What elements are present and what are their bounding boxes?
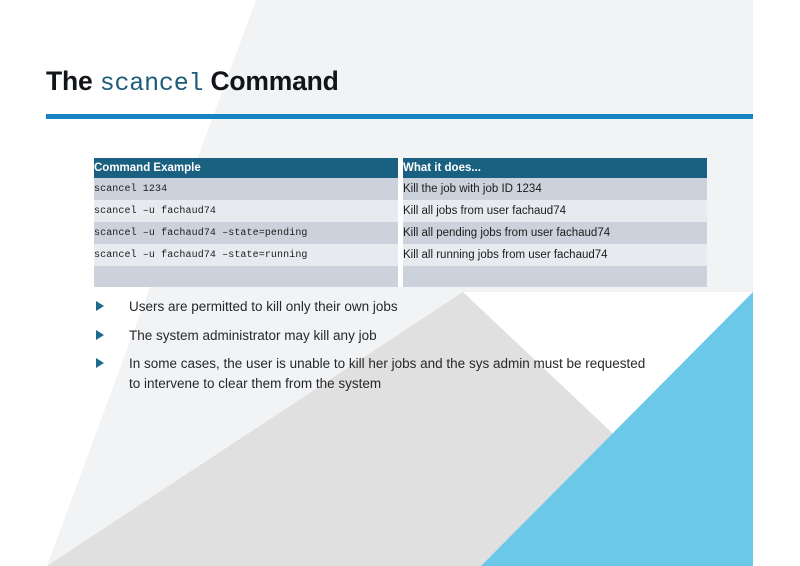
table-row-empty xyxy=(94,266,707,287)
triangle-bullet-icon xyxy=(96,330,104,340)
slide-canvas: The scancel Command Command Example What… xyxy=(0,0,800,566)
table-cell-command: scancel –u fachaud74 –state=running xyxy=(94,244,398,266)
table-row: scancel 1234 Kill the job with job ID 12… xyxy=(94,178,707,200)
page-title-command: scancel xyxy=(100,69,204,98)
title-underline-rule xyxy=(46,114,753,119)
table-cell-description: Kill all running jobs from user fachaud7… xyxy=(403,244,707,266)
list-item-text: The system administrator may kill any jo… xyxy=(129,328,377,343)
page-title: The scancel Command xyxy=(46,66,746,99)
list-item-text: Users are permitted to kill only their o… xyxy=(129,299,398,314)
table-cell-description: Kill all pending jobs from user fachaud7… xyxy=(403,222,707,244)
title-block: The scancel Command xyxy=(46,66,746,99)
list-item: In some cases, the user is unable to kil… xyxy=(96,354,656,393)
list-item: Users are permitted to kill only their o… xyxy=(96,297,656,317)
table-header-what-it-does: What it does... xyxy=(403,158,707,178)
table-cell-description: Kill the job with job ID 1234 xyxy=(403,178,707,200)
table-row: scancel –u fachaud74 –state=running Kill… xyxy=(94,244,707,266)
table-cell-command xyxy=(94,266,398,287)
table-cell-command: scancel –u fachaud74 –state=pending xyxy=(94,222,398,244)
table-cell-description: Kill all jobs from user fachaud74 xyxy=(403,200,707,222)
table-row: scancel –u fachaud74 –state=pending Kill… xyxy=(94,222,707,244)
page-title-suffix: Command xyxy=(203,66,338,96)
table-header-command-example: Command Example xyxy=(94,158,398,178)
table-cell-command: scancel 1234 xyxy=(94,178,398,200)
bullet-list: Users are permitted to kill only their o… xyxy=(96,297,656,393)
table-cell-description xyxy=(403,266,707,287)
page-title-prefix: The xyxy=(46,66,100,96)
table-header-row: Command Example What it does... xyxy=(94,158,707,178)
list-item: The system administrator may kill any jo… xyxy=(96,326,656,346)
triangle-bullet-icon xyxy=(96,301,104,311)
table-cell-command: scancel –u fachaud74 xyxy=(94,200,398,222)
triangle-bullet-icon xyxy=(96,358,104,368)
table-row: scancel –u fachaud74 Kill all jobs from … xyxy=(94,200,707,222)
command-table: Command Example What it does... scancel … xyxy=(94,158,707,287)
list-item-text: In some cases, the user is unable to kil… xyxy=(129,356,645,391)
